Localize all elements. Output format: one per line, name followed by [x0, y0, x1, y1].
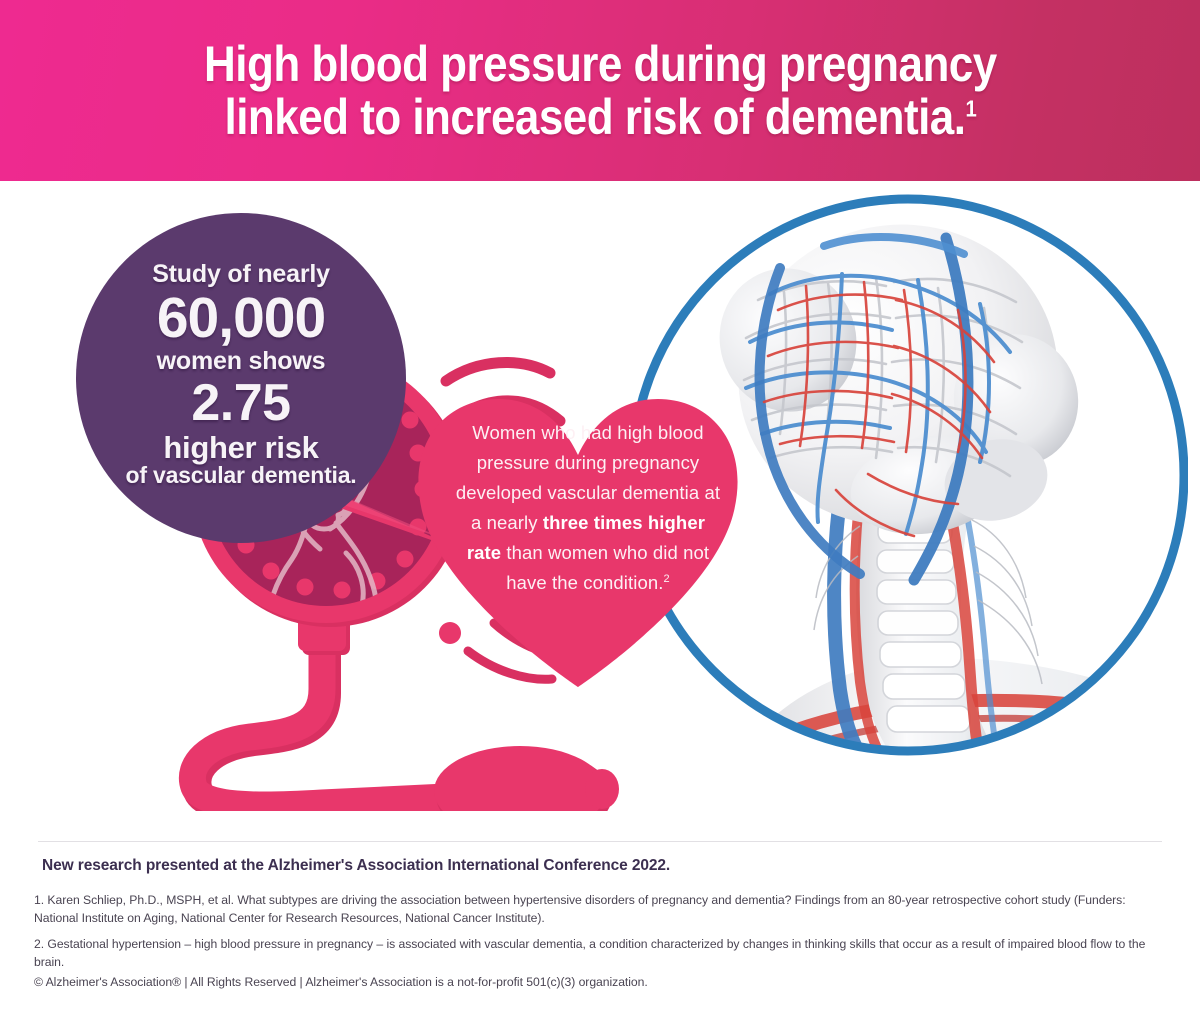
- heart-callout-text: Women who had high blood pressure during…: [455, 418, 721, 598]
- infographic-page: High blood pressure during pregnancy lin…: [0, 0, 1200, 1019]
- stat-line-1: Study of nearly: [126, 262, 357, 288]
- footnote-2: 2. Gestational hypertension – high blood…: [34, 936, 1169, 971]
- heart-text-superscript: 2: [664, 573, 670, 585]
- gauge-bulb: [434, 746, 606, 811]
- page-title: High blood pressure during pregnancy lin…: [177, 38, 1022, 144]
- stat-line-6: of vascular dementia.: [126, 464, 357, 487]
- footer-divider: [38, 841, 1162, 842]
- page-title-text: High blood pressure during pregnancy lin…: [204, 36, 997, 145]
- page-title-superscript: 1: [965, 95, 976, 121]
- stat-line-5: higher risk: [126, 432, 357, 464]
- footer-headline: New research presented at the Alzheimer'…: [42, 857, 1152, 875]
- study-statistic-circle: Study of nearly 60,000 women shows 2.75 …: [76, 213, 406, 543]
- gauge-bulb-valve: [585, 769, 619, 809]
- illustration-stage: Study of nearly 60,000 women shows 2.75 …: [0, 181, 1200, 841]
- footnote-1: 1. Karen Schliep, Ph.D., MSPH, et al. Wh…: [34, 892, 1169, 927]
- header-banner: High blood pressure during pregnancy lin…: [0, 0, 1200, 181]
- heart-text-part2: than women who did not have the conditio…: [501, 542, 709, 593]
- footer: New research presented at the Alzheimer'…: [0, 841, 1200, 1019]
- study-statistic-text: Study of nearly 60,000 women shows 2.75 …: [126, 262, 357, 493]
- stat-value-risk-ratio: 2.75: [126, 377, 357, 430]
- copyright-line: © Alzheimer's Association® | All Rights …: [34, 974, 1169, 992]
- stat-value-sample-size: 60,000: [126, 289, 357, 347]
- stat-line-3: women shows: [126, 349, 357, 375]
